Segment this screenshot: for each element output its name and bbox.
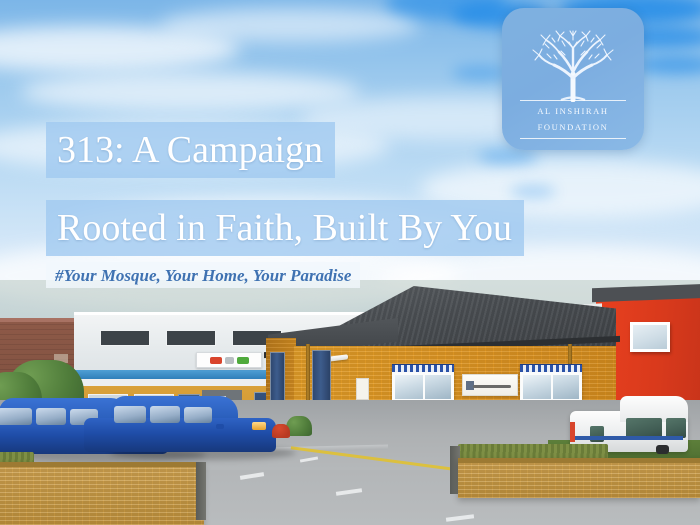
campaign-poster: AL INSHIRAH FOUNDATION 313: A Campaign R…	[0, 0, 700, 525]
van-wheel	[656, 445, 669, 454]
flower-bed	[272, 424, 290, 438]
car-window	[36, 408, 66, 425]
shop-sign-mark-green	[237, 357, 249, 364]
mosque-wall-sign	[462, 374, 518, 396]
planter-coping	[458, 458, 700, 463]
van-stripe	[575, 436, 684, 440]
sky-blue-patch	[636, 56, 700, 74]
logo-name-line1: AL INSHIRAH	[502, 106, 644, 116]
cloud	[20, 72, 360, 112]
logo-name-line2: FOUNDATION	[502, 122, 644, 132]
shop-sign-mark-grey	[225, 357, 234, 364]
car-body	[84, 418, 276, 452]
van-windscreen	[666, 418, 686, 438]
car-window	[0, 408, 32, 425]
warehouse-window	[166, 330, 216, 346]
wall-notice-plate	[356, 378, 369, 400]
planter-coping	[0, 462, 204, 467]
logo-panel: AL INSHIRAH FOUNDATION	[502, 8, 644, 150]
car-mirror	[216, 424, 224, 429]
sky-blue-patch	[478, 150, 538, 164]
hashtag-band: #Your Mosque, Your Home, Your Paradise	[46, 262, 360, 288]
shop-sign	[196, 352, 262, 368]
red-building-window	[630, 322, 670, 352]
car-headlight	[252, 422, 266, 430]
mosque-window	[392, 372, 454, 402]
planter-wall	[0, 462, 204, 525]
wall-sign-bar	[473, 385, 511, 388]
car-window	[150, 406, 180, 423]
warehouse-window	[100, 330, 150, 346]
window-mullion	[551, 375, 553, 399]
van-window	[626, 418, 662, 438]
cloud	[160, 8, 420, 42]
headline-line-2: Rooted in Faith, Built By You	[57, 209, 512, 247]
car-window	[114, 406, 146, 423]
sky-blue-patch	[452, 66, 508, 80]
shop-sign-mark-red	[210, 357, 222, 364]
car-window	[184, 407, 212, 423]
headline-band-2: Rooted in Faith, Built By You	[46, 200, 524, 256]
window-mullion	[423, 375, 425, 399]
hashtag-text: #Your Mosque, Your Home, Your Paradise	[55, 267, 351, 284]
planter-wall	[458, 458, 700, 498]
headline-band-1: 313: A Campaign	[46, 122, 335, 178]
planter-end-panel	[196, 462, 206, 520]
sky-blue-patch	[510, 186, 556, 197]
parked-car	[84, 396, 276, 452]
logo-divider-bottom	[520, 138, 626, 139]
tree-emblem-icon	[527, 22, 619, 102]
logo-divider-top	[520, 100, 626, 101]
headline-line-1: 313: A Campaign	[57, 131, 323, 169]
